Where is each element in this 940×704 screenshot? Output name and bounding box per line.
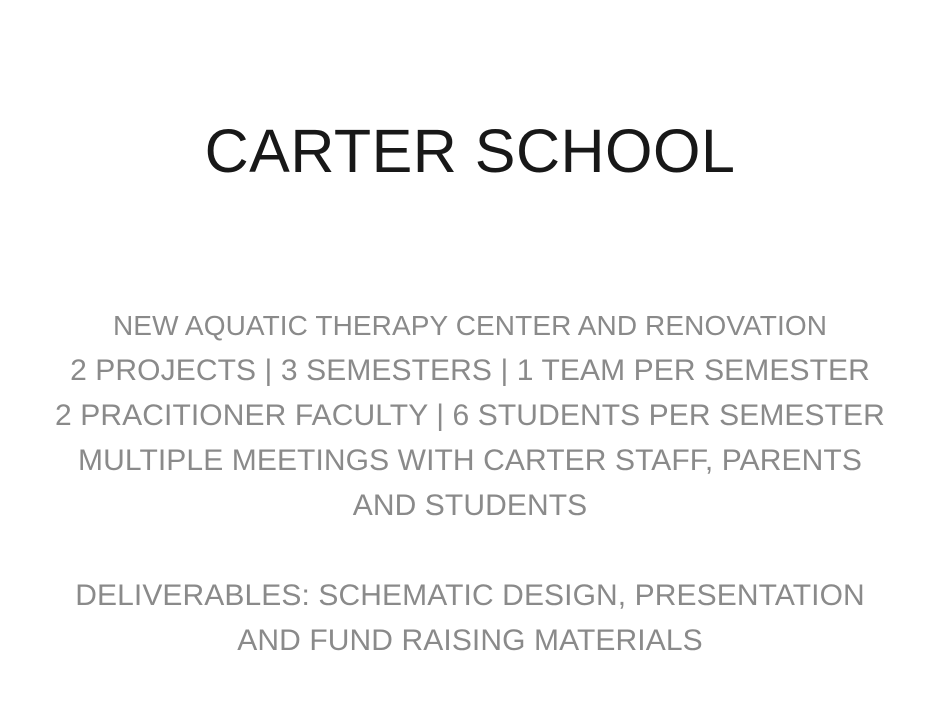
body-line-project-description: NEW AQUATIC THERAPY CENTER AND RENOVATIO… [52,303,888,348]
body-paragraph-spacer [52,528,888,573]
body-line-project-counts: 2 PROJECTS | 3 SEMESTERS | 1 TEAM PER SE… [52,348,888,393]
page-title: CARTER SCHOOL [0,119,940,183]
body-line-faculty-students: 2 PRACITIONER FACULTY | 6 STUDENTS PER S… [52,393,888,438]
presentation-slide: CARTER SCHOOL NEW AQUATIC THERAPY CENTER… [0,0,940,704]
body-line-deliverables: DELIVERABLES: SCHEMATIC DESIGN, PRESENTA… [52,573,888,663]
body-line-meetings: MULTIPLE MEETINGS WITH CARTER STAFF, PAR… [52,438,888,528]
slide-body-text: NEW AQUATIC THERAPY CENTER AND RENOVATIO… [52,303,888,663]
